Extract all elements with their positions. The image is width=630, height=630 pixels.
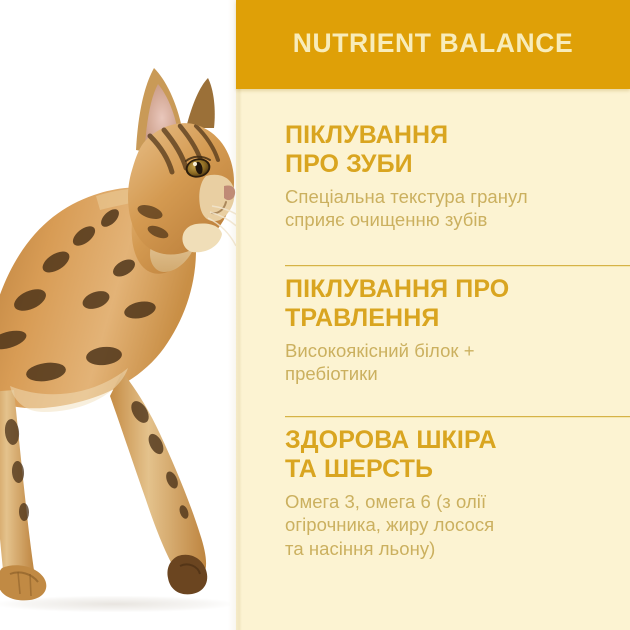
feature-block-digestion: ПІКЛУВАННЯ ПРО ТРАВЛЕННЯ Високоякісний б… <box>236 275 630 386</box>
cat-back-leg <box>0 390 46 600</box>
feature-block-dental: ПІКЛУВАННЯ ПРО ЗУБИ Спеціальна текстура … <box>236 121 630 232</box>
feature-body: Високоякісний білок + пребіотики <box>285 339 618 386</box>
page-title: NUTRIENT BALANCE <box>287 30 579 57</box>
feature-body-line: Спеціальна текстура гранул <box>285 186 528 207</box>
feature-body: Спеціальна текстура гранул сприяє очищен… <box>285 185 618 232</box>
feature-heading-line: ТРАВЛЕННЯ <box>285 304 439 332</box>
feature-body-line: та насіння льону) <box>285 538 435 559</box>
feature-body-line: огірочника, жиру лосося <box>285 514 494 535</box>
cat-front-leg <box>110 372 207 594</box>
feature-body-line: Високоякісний білок + <box>285 340 475 361</box>
nutrient-balance-banner: NUTRIENT BALANCE ПІКЛУВАННЯ ПРО ЗУБИ Спе… <box>0 0 630 630</box>
feature-heading: ЗДОРОВА ШКІРА ТА ШЕРСТЬ <box>285 426 618 483</box>
feature-heading-line: ЗДОРОВА ШКІРА <box>285 426 497 454</box>
section-divider <box>285 416 630 418</box>
feature-heading: ПІКЛУВАННЯ ПРО ЗУБИ <box>285 121 618 178</box>
feature-heading-line: ТА ШЕРСТЬ <box>285 455 433 483</box>
feature-body: Омега 3, омега 6 (з олії огірочника, жир… <box>285 490 618 560</box>
feature-heading: ПІКЛУВАННЯ ПРО ТРАВЛЕННЯ <box>285 275 618 332</box>
feature-heading-line: ПІКЛУВАННЯ <box>285 121 448 149</box>
header-band: NUTRIENT BALANCE <box>236 0 630 89</box>
feature-body-line: сприяє очищенню зубів <box>285 209 487 230</box>
feature-block-skin-coat: ЗДОРОВА ШКІРА ТА ШЕРСТЬ Омега 3, омега 6… <box>236 426 630 560</box>
feature-body-line: пребіотики <box>285 363 378 384</box>
feature-list: ПІКЛУВАННЯ ПРО ЗУБИ Спеціальна текстура … <box>236 89 630 630</box>
feature-heading-line: ПІКЛУВАННЯ ПРО <box>285 275 509 303</box>
bengal-cat-illustration <box>0 0 236 630</box>
feature-heading-line: ПРО ЗУБИ <box>285 150 413 178</box>
feature-body-line: Омега 3, омега 6 (з олії <box>285 491 486 512</box>
section-divider <box>285 265 630 267</box>
cat-head <box>128 123 236 254</box>
cat-photo <box>0 0 236 630</box>
